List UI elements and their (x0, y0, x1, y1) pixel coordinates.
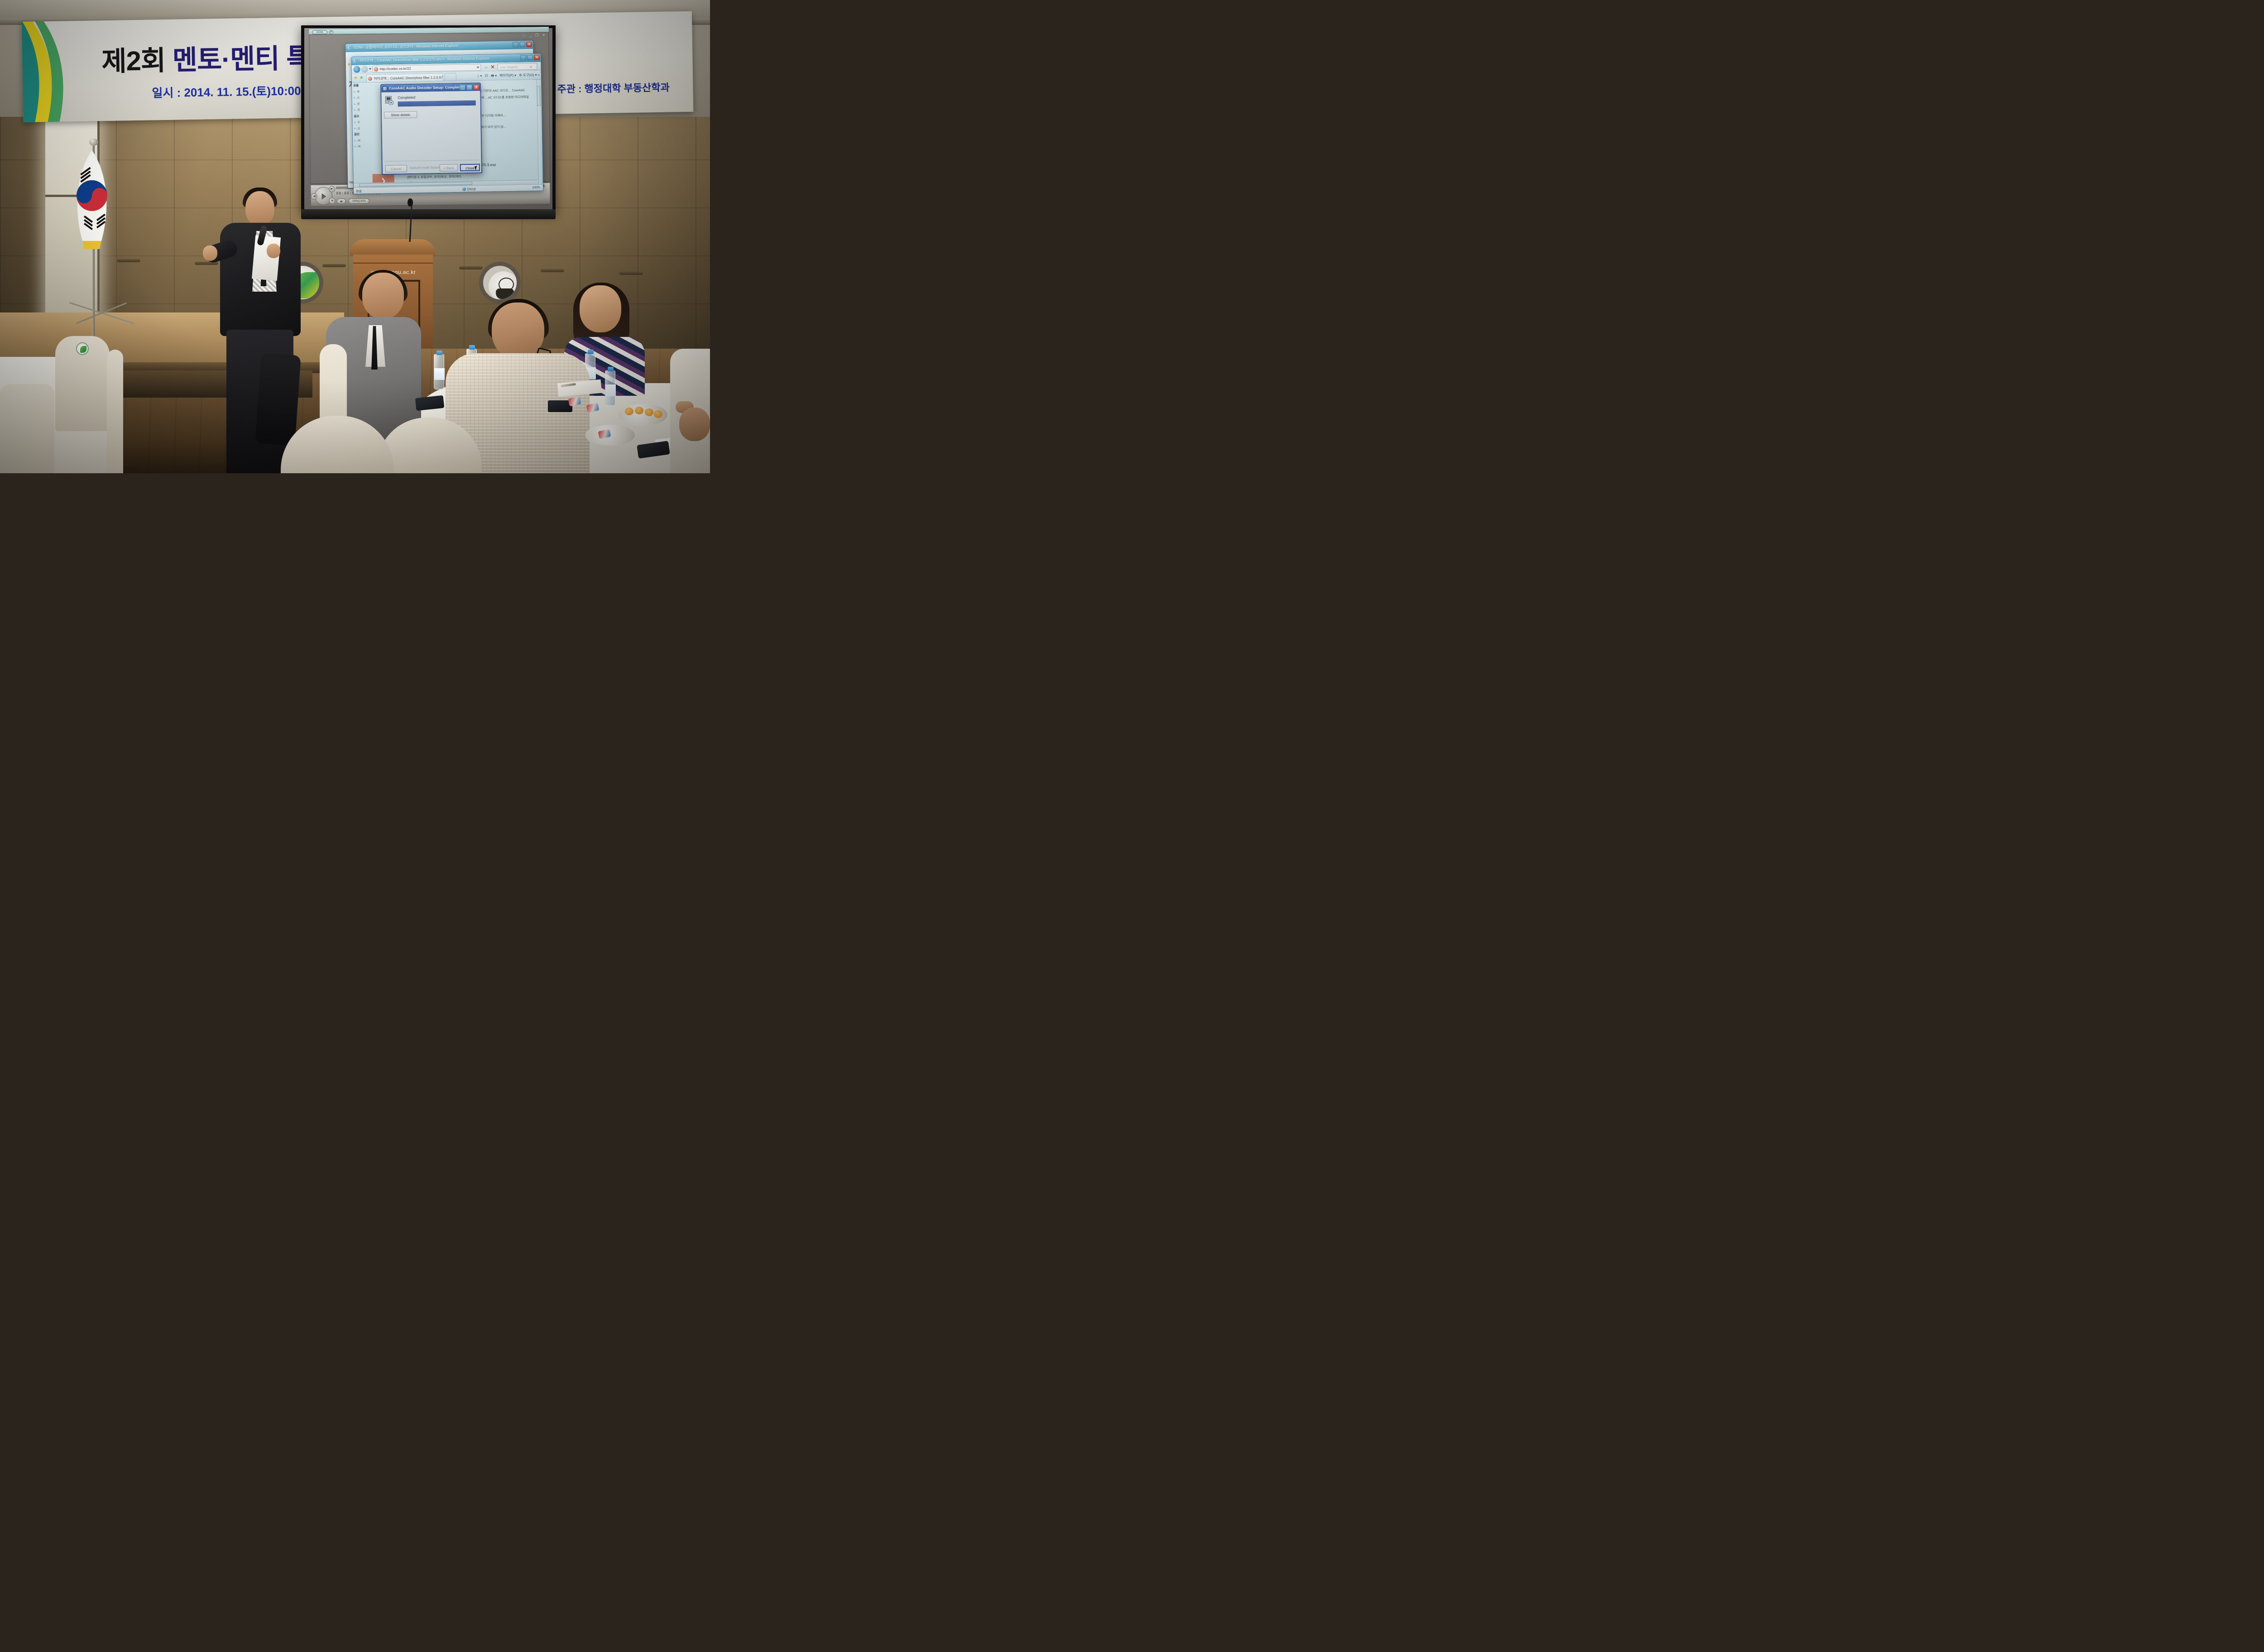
screenshot-root: 제2회 멘토·멘티 특강 및 세미나 일시 : 2014. 11. 15.(토)… (0, 0, 710, 473)
speaker-handout-paper (252, 235, 281, 281)
projection-screen-bottom-bar (301, 209, 556, 219)
print-icon[interactable]: 🖶 (491, 73, 494, 77)
minimize-button[interactable]: _ (460, 85, 465, 90)
search-input[interactable]: Live Search ⌕ (497, 63, 537, 71)
ie-front-title-text: 아이코덱 :: CoreAAC Directshow filter 1.2.0.… (360, 56, 489, 63)
bottle-cap-4 (608, 367, 614, 371)
status-text: 완료 (356, 189, 362, 194)
sidebar-item-10[interactable]: ㄴ 비 (354, 144, 380, 150)
sidebar-item-2[interactable]: ㄴ 소 (353, 95, 379, 101)
browser-tab-label: 아이코덱 :: CoreAAC Directshow filter 1.2.0.… (374, 75, 443, 81)
chair-left-3[interactable] (0, 384, 54, 473)
sidebar-item-6[interactable]: ㄴ 소 (354, 119, 380, 126)
gom-logo-icon: GOM (312, 30, 327, 34)
fruit-4 (654, 410, 662, 418)
daegu-university-mascot-emblem (479, 262, 521, 303)
attendee-1-head (362, 273, 404, 319)
bottle-cap-2 (469, 345, 475, 350)
installer-progress-bar (398, 101, 476, 107)
installer-footer[interactable]: Cancel Nullsoft Install System v2.16 < B… (383, 163, 481, 175)
site-sidebar-menu[interactable]: 곰플 ㄴ 자 ㄴ 소 ㄴ 로 ㄴ 코 곰오 ㄴ 소 ㄴ 소 곰인 ㄴ 비 ㄴ 비 (353, 82, 381, 150)
bottle-label-1 (434, 368, 445, 380)
installer-separator (385, 160, 479, 162)
sidebar-item-3[interactable]: ㄴ 로 (354, 101, 380, 107)
back-button: < Back (440, 164, 458, 172)
installer-status-label: Completed (398, 96, 415, 100)
maximize-button[interactable]: □ (519, 42, 525, 47)
sidebar-item-8[interactable]: 곰인 (354, 131, 380, 138)
close-button[interactable]: ✕ (526, 42, 532, 47)
security-zone-text: 인터넷 (467, 187, 475, 192)
internet-zone-icon (462, 187, 466, 191)
podium-trim (353, 263, 433, 264)
vertical-scrollbar[interactable] (537, 80, 542, 184)
feeds-icon[interactable]: ▤ (484, 74, 488, 78)
gom-eject-button[interactable]: ⏏ (337, 198, 346, 204)
forward-arrow-icon[interactable]: → (361, 66, 368, 72)
show-details-button[interactable]: Show details (384, 111, 417, 119)
fruit-3 (645, 408, 653, 416)
attendee-3-head (580, 285, 621, 332)
podium-top (350, 239, 436, 255)
bottle-cap-1 (436, 351, 442, 355)
flagpole-finial (89, 139, 98, 146)
sidebar-item-4[interactable]: ㄴ 코 (354, 107, 380, 114)
speaker-coat-bag (255, 353, 301, 446)
sidebar-item-1[interactable]: ㄴ 자 (353, 88, 379, 95)
installer-window-controls[interactable]: _ □ X (460, 85, 479, 91)
browser-tab[interactable]: 아이코덱 :: CoreAAC Directshow filter 1.2.0.… (366, 73, 443, 82)
ie-back-window-controls[interactable]: _ □ ✕ (513, 42, 532, 48)
ie-back-title-text: GOM - 곰플레이어, 곰오디오, 곰인코더 - Windows Intern… (354, 43, 459, 50)
gom-prev-button[interactable]: |◀ (311, 193, 317, 200)
sidebar-item-0[interactable]: 곰플 (353, 82, 379, 89)
ie-logo-icon: e (347, 46, 352, 50)
back-arrow-icon[interactable]: ← (353, 66, 360, 73)
maximize-button[interactable]: □ (466, 85, 472, 90)
speaker-right-hand (267, 244, 280, 258)
tools-menu-button[interactable]: 도구(O) (523, 73, 534, 77)
microphone-icon (408, 198, 413, 206)
add-favorite-icon[interactable]: ★ (354, 76, 358, 81)
site-identity-icon (374, 67, 378, 72)
attendee-4-head (679, 408, 710, 441)
installer-body: Completed Show details Cancel Nullsoft I… (381, 91, 481, 175)
ie-front-window-controls[interactable]: _ □ ✕ (520, 55, 540, 61)
chair-seal-icon-1 (76, 342, 89, 355)
search-placeholder: Live Search (499, 65, 518, 69)
installer-dialog[interactable]: CoreAAC Audio Decoder Setup: Completed _… (380, 83, 482, 175)
wall-hook-6 (619, 272, 643, 275)
address-bar[interactable]: http://icodec.co.kr/22 (372, 64, 481, 72)
gom-stop-button[interactable]: ■ (329, 197, 336, 204)
ie-logo-icon: e (353, 59, 358, 63)
wall-hook-4 (459, 266, 483, 269)
attendee-2-head (492, 303, 544, 359)
gom-profile-icon[interactable]: P (329, 30, 333, 34)
gear-icon[interactable]: ⚙ (519, 73, 522, 77)
install-computer-icon (385, 96, 395, 105)
chair-left-2[interactable] (107, 350, 123, 473)
installer-icon (383, 86, 387, 91)
cancel-button: Cancel (385, 165, 407, 173)
korean-flag-icon (72, 150, 111, 259)
banner-date: 일시 : 2014. 11. 15.(토)10:00 ~ 2 (152, 82, 321, 101)
tab-favicon-icon (368, 77, 372, 81)
gom-next-button[interactable]: ▶| (329, 186, 335, 192)
gom-window-controls[interactable]: ⬚ _ ❐ ✕ (523, 33, 547, 38)
favorites-star-icon[interactable]: ★ (347, 62, 351, 67)
water-bottle-1[interactable] (434, 354, 444, 389)
search-icon[interactable]: ⌕ (530, 64, 532, 69)
banner-organizer: 주관 : 행정대학 부동산학과 (557, 80, 670, 96)
wall-hook-1 (117, 259, 140, 262)
speaker-head (245, 191, 274, 226)
new-tab-button[interactable] (445, 73, 456, 81)
sidebar-item-7[interactable]: ㄴ 소 (354, 125, 380, 132)
address-chevron-down-icon[interactable] (476, 67, 479, 68)
address-bar-value: http://icodec.co.kr/22 (379, 67, 411, 71)
gom-subtitle-helper-button[interactable]: 자막도우미 (349, 198, 369, 204)
minimize-button[interactable]: _ (513, 42, 518, 47)
maximize-button[interactable]: □ (527, 55, 533, 60)
sidebar-item-9[interactable]: ㄴ 비 (354, 137, 380, 144)
minimize-button[interactable]: _ (520, 55, 526, 60)
ie-command-bar[interactable]: ⌂ ▾ ▤ 🖶 ▾ 페이지(P) ▾ ⚙ 도구(O) ▾ » (477, 72, 540, 79)
vertical-scroll-thumb[interactable] (537, 86, 541, 106)
bottle-label-4 (605, 384, 616, 396)
tiger-mascot-icon (489, 271, 518, 301)
installer-title: CoreAAC Audio Decoder Setup: Completed (389, 85, 464, 91)
banner-title-part1: 제2회 (101, 45, 166, 77)
water-bottle-4[interactable] (605, 370, 615, 406)
zoom-level[interactable]: 100% (532, 186, 540, 189)
speaker-left-hand (203, 245, 217, 261)
fruit-2 (635, 407, 643, 414)
close-button[interactable]: X (473, 85, 479, 90)
wall-hook-5 (541, 269, 564, 272)
close-button[interactable]: ✕ (534, 55, 540, 60)
overflow-chevron-icon[interactable]: » (538, 73, 540, 77)
refresh-icon[interactable]: ↔ (484, 65, 488, 70)
stop-icon[interactable]: ✕ (490, 64, 494, 70)
fruit-1 (625, 408, 633, 415)
history-chevron-down-icon[interactable] (369, 68, 371, 70)
bottle-cap-3 (588, 350, 594, 354)
favorites-center-icon[interactable]: ★ (360, 76, 364, 81)
page-menu-button[interactable]: 페이지(P) (499, 73, 513, 78)
sidebar-item-5[interactable]: 곰오 (354, 113, 380, 120)
wall-hook-3 (322, 264, 346, 267)
home-icon[interactable]: ⌂ (477, 74, 480, 78)
